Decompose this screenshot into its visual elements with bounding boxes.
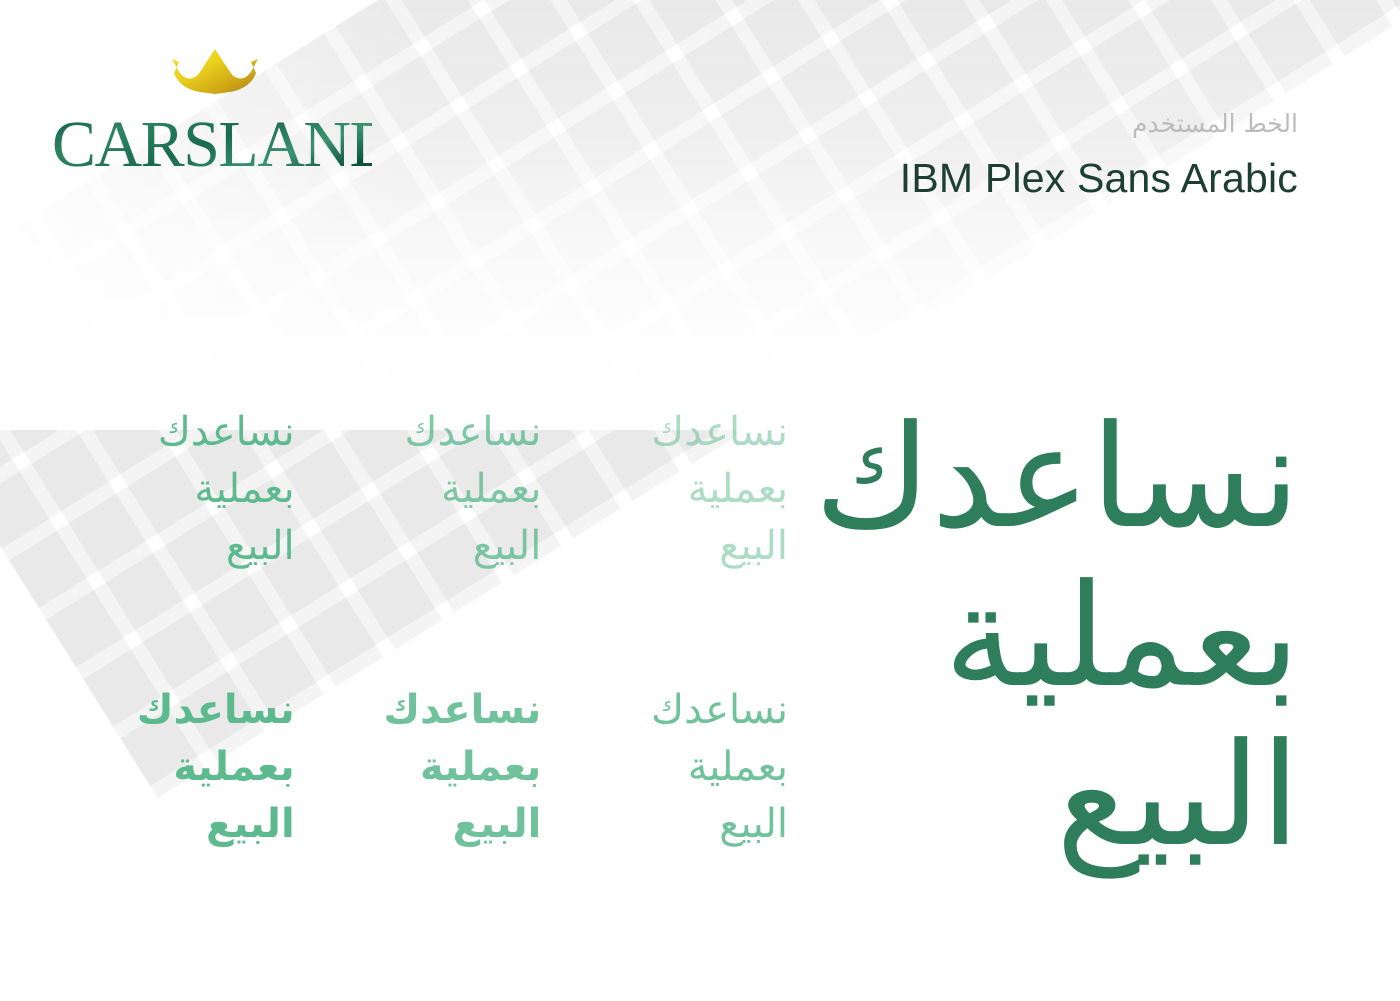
brand-logo-lockup: CARSLAND [52, 48, 382, 174]
type-sample-thin-070: نساعدك بعملية البيع [303, 404, 550, 682]
crown-icon [168, 48, 266, 100]
type-sample-bold-100: نساعدك بعملية البيع [56, 682, 303, 960]
type-sample-thin-100: نساعدك بعملية البيع [56, 404, 303, 682]
type-sample-thin-045: نساعدك بعملية البيع [549, 404, 796, 682]
type-sample-bold-085: نساعدك بعملية البيع [303, 682, 550, 960]
hero-display-text: نساعدك بعملية البيع [830, 398, 1300, 875]
type-sample-bold-070: نساعدك بعملية البيع [549, 682, 796, 960]
font-spec-block: الخط المستخدم IBM Plex Sans Arabic [900, 108, 1298, 207]
wordmark-text: CARSLAND [52, 108, 372, 174]
font-spec-label: الخط المستخدم [900, 108, 1298, 139]
type-sample-grid: نساعدك بعملية البيع نساعدك بعملية البيع … [56, 404, 796, 960]
brand-wordmark: CARSLAND [52, 108, 372, 174]
brand-typography-board: CARSLAND الخط المستخدم IBM Plex Sans Ara… [0, 0, 1400, 1001]
font-spec-name: IBM Plex Sans Arabic [900, 151, 1298, 206]
